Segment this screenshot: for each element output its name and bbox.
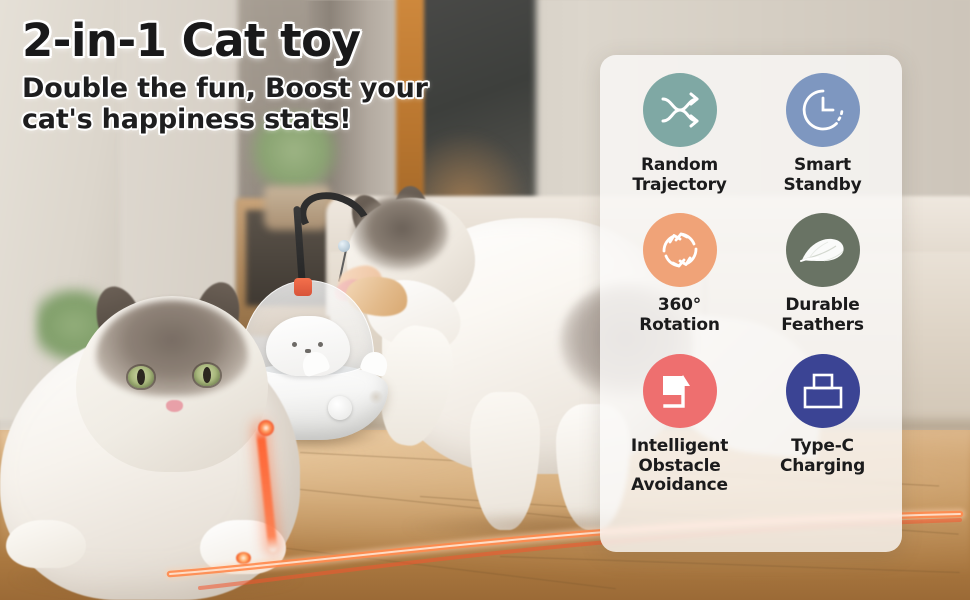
feature-smart-standby[interactable]: Smart Standby (753, 73, 893, 195)
device-cat-face (266, 316, 350, 376)
feature-label-line-1: Smart (794, 155, 851, 175)
device-face-nose (305, 349, 311, 353)
page-subtitle: Double the fun, Boost your cat's happine… (22, 73, 442, 136)
device-face-eye-left (292, 342, 297, 347)
usb-plug-icon (800, 370, 846, 412)
feature-icon-circle (643, 213, 717, 287)
laser-target-dot (236, 552, 251, 564)
feature-intelligent-obstacle-avoidance[interactable]: Intelligent Obstacle Avoidance (610, 354, 750, 496)
device-face-ear-left (299, 349, 331, 378)
feature-row-2: 360° Rotation Durable Feathers (608, 213, 894, 335)
rotation-icon (657, 227, 703, 273)
cat-nose (166, 400, 183, 412)
feature-row-3: Intelligent Obstacle Avoidance Type-C (608, 354, 894, 496)
cat-pupil (203, 367, 211, 383)
page-title: 2-in-1 Cat toy (22, 18, 442, 64)
cat-eye-left (128, 366, 154, 388)
feature-label: Type-C Charging (780, 437, 865, 476)
feather-icon (798, 230, 848, 270)
feature-label-line-1: Random (641, 155, 718, 175)
device-paw-print (368, 390, 384, 404)
headline-block: 2-in-1 Cat toy Double the fun, Boost you… (22, 18, 442, 136)
cat-eye-right (194, 364, 220, 386)
feature-label-line-1: 360° (658, 295, 701, 315)
feature-row-1: Random Trajectory Smart St (608, 73, 894, 195)
feature-icon-circle (786, 354, 860, 428)
feature-label: Smart Standby (784, 156, 862, 195)
laser-emitter-dot (258, 420, 274, 436)
device-top-port (294, 278, 312, 296)
feature-label-line-2: Trajectory (632, 175, 726, 195)
shuffle-icon (658, 90, 702, 130)
device-face-eye-right (318, 342, 323, 347)
feature-icon-circle (643, 354, 717, 428)
feature-label-line-1: Durable (785, 295, 859, 315)
device-power-button[interactable] (328, 396, 352, 420)
feature-label-line-1: Intelligent (631, 436, 728, 456)
feature-label: Random Trajectory (632, 156, 726, 195)
feature-label-line-2: Obstacle (638, 456, 720, 476)
feature-random-trajectory[interactable]: Random Trajectory (610, 73, 750, 195)
feature-durable-feathers[interactable]: Durable Feathers (753, 213, 893, 335)
feature-label: Durable Feathers (781, 296, 864, 335)
feature-label-line-2: Charging (780, 456, 865, 476)
feature-label-line-2: Standby (784, 175, 862, 195)
obstacle-avoidance-icon (657, 368, 703, 414)
feature-label-line-2: Feathers (781, 315, 864, 335)
feature-panel: Random Trajectory Smart St (600, 55, 902, 552)
feature-icon-circle (786, 213, 860, 287)
feature-icon-circle (643, 73, 717, 147)
cat-pupil (137, 369, 145, 385)
feature-label-line-2: Rotation (639, 315, 720, 335)
feature-360-rotation[interactable]: 360° Rotation (610, 213, 750, 335)
feature-label-line-1: Type-C (791, 436, 854, 456)
feature-type-c-charging[interactable]: Type-C Charging (753, 354, 893, 476)
feature-label: Intelligent Obstacle Avoidance (631, 437, 728, 496)
feature-icon-circle (786, 73, 860, 147)
wand-bell (338, 240, 350, 252)
feature-label-line-3: Avoidance (631, 475, 728, 495)
feature-label: 360° Rotation (639, 296, 720, 335)
cat-paw-left (6, 520, 86, 568)
clock-icon (800, 87, 846, 133)
product-banner: 2-in-1 Cat toy Double the fun, Boost you… (0, 0, 970, 600)
